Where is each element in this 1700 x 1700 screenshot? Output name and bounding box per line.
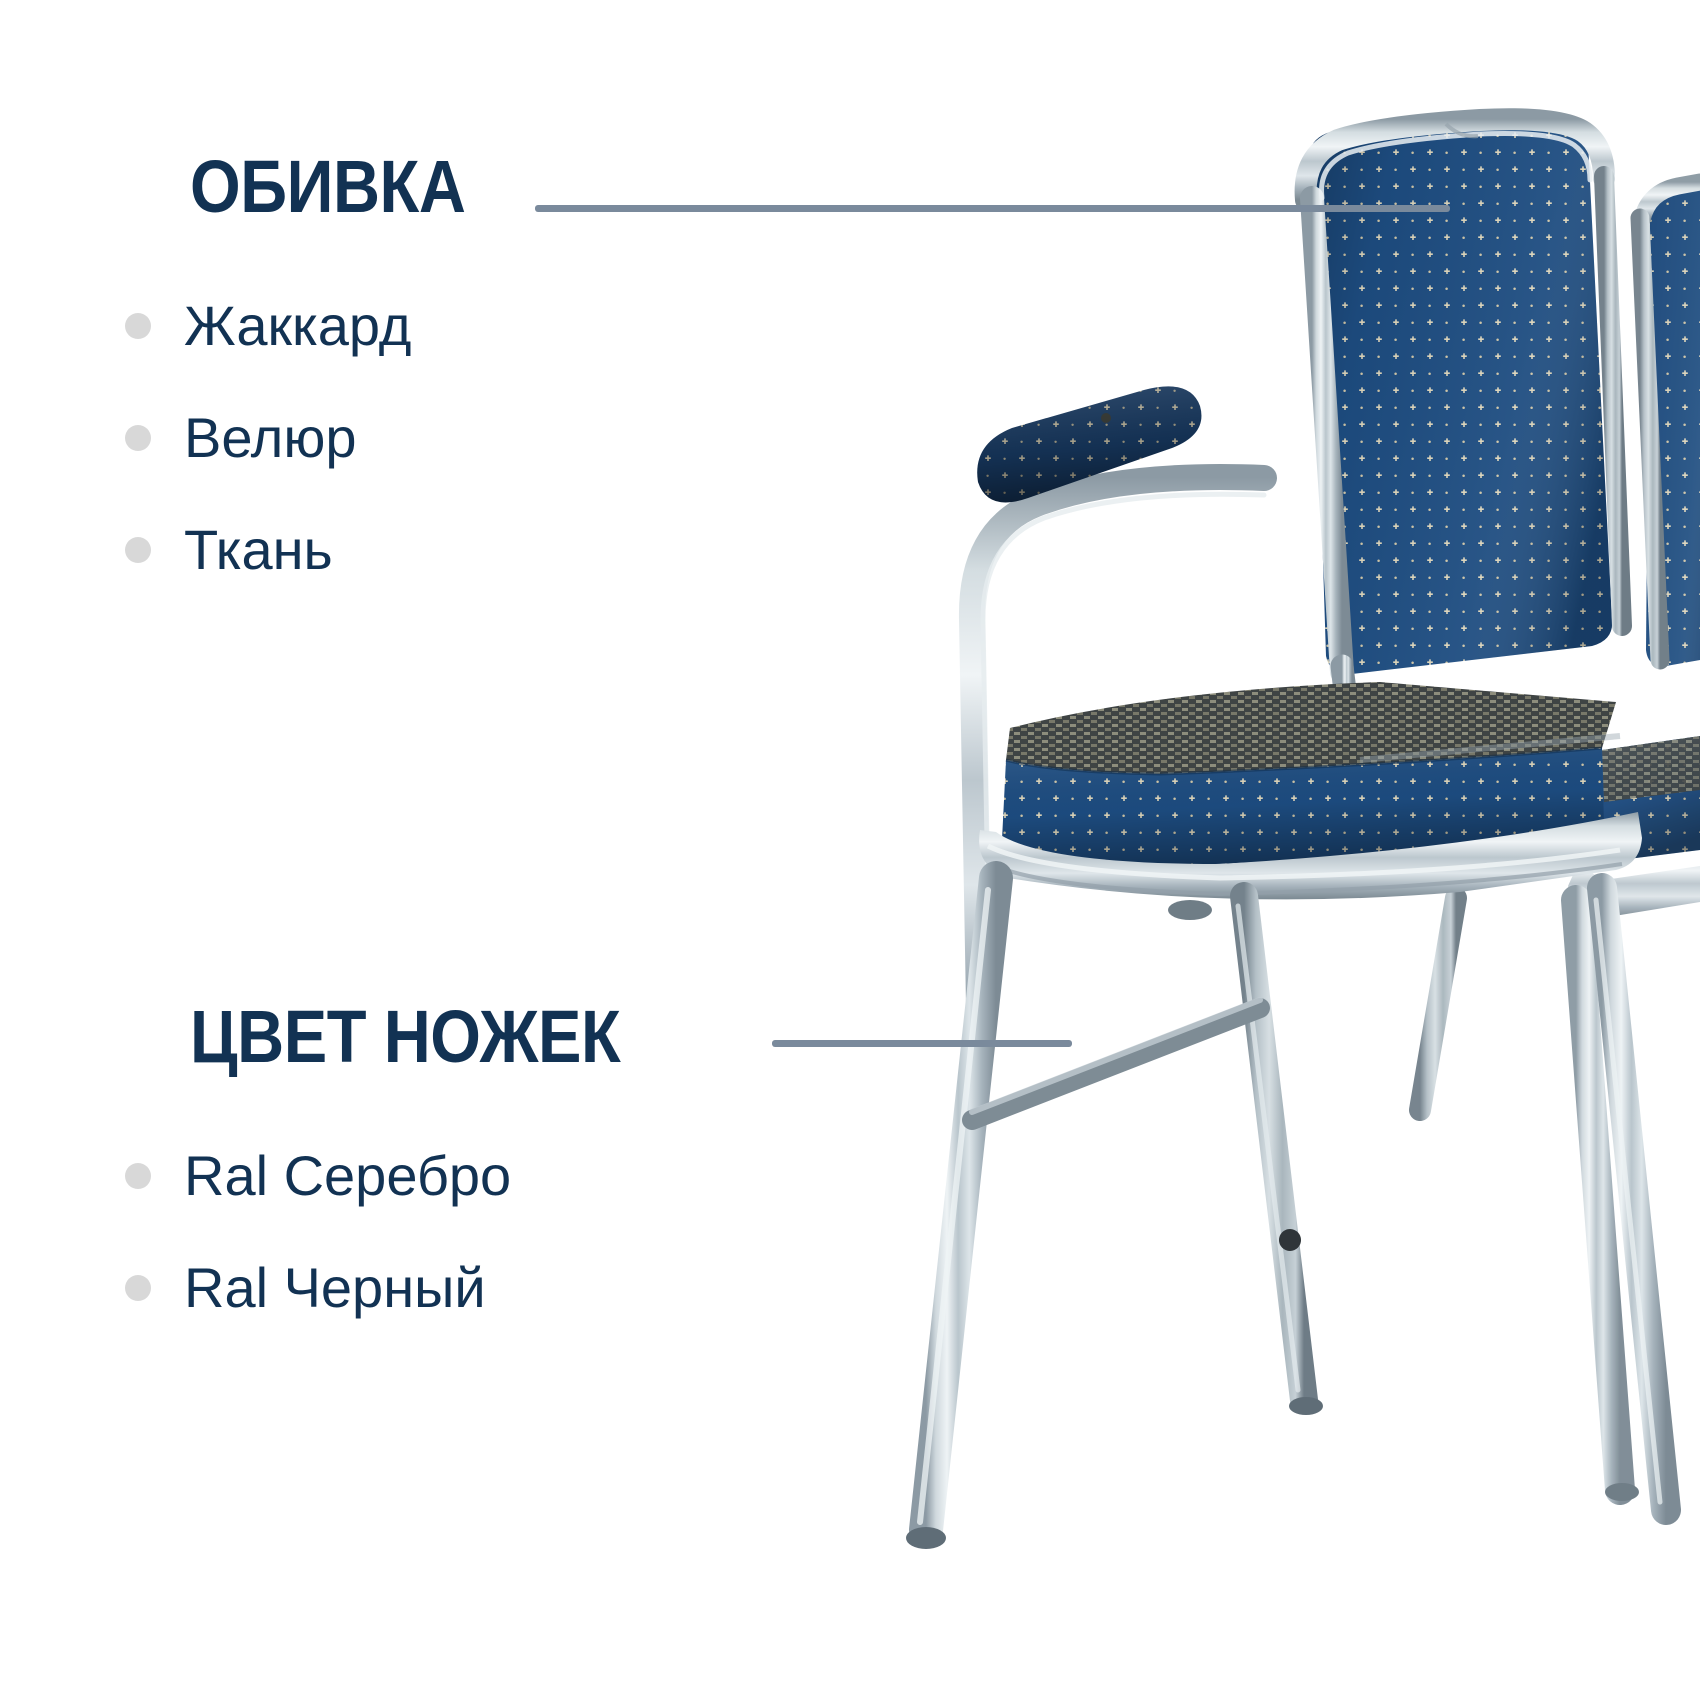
bullet-icon xyxy=(125,537,151,563)
option-label: Ral Серебро xyxy=(184,1148,511,1204)
section-title-leg-color: ЦВЕТ НОЖЕК xyxy=(190,1000,815,1074)
chair-product-photo xyxy=(860,60,1700,1620)
list-item[interactable]: Ткань xyxy=(125,494,900,606)
bullet-icon xyxy=(125,1163,151,1189)
list-item[interactable]: Ral Серебро xyxy=(125,1120,900,1232)
product-feature-card: ОБИВКА Жаккард Велюр Ткань ЦВЕТ НОЖЕК Ra… xyxy=(0,0,1700,1700)
section-upholstery: ОБИВКА Жаккард Велюр Ткань xyxy=(0,150,900,606)
option-label: Ral Черный xyxy=(184,1260,486,1316)
section-title-upholstery: ОБИВКА xyxy=(190,150,815,224)
bullet-icon xyxy=(125,1275,151,1301)
option-label: Ткань xyxy=(184,522,333,578)
leg-color-option-list: Ral Серебро Ral Черный xyxy=(125,1120,900,1344)
chair-primary xyxy=(906,110,1666,1549)
section-leg-color: ЦВЕТ НОЖЕК Ral Серебро Ral Черный xyxy=(0,1000,900,1344)
option-label: Жаккард xyxy=(184,298,411,354)
list-item[interactable]: Ral Черный xyxy=(125,1232,900,1344)
list-item[interactable]: Велюр xyxy=(125,382,900,494)
option-label: Велюр xyxy=(184,410,356,466)
upholstery-option-list: Жаккард Велюр Ткань xyxy=(125,270,900,606)
bullet-icon xyxy=(125,425,151,451)
bullet-icon xyxy=(125,313,151,339)
list-item[interactable]: Жаккард xyxy=(125,270,900,382)
